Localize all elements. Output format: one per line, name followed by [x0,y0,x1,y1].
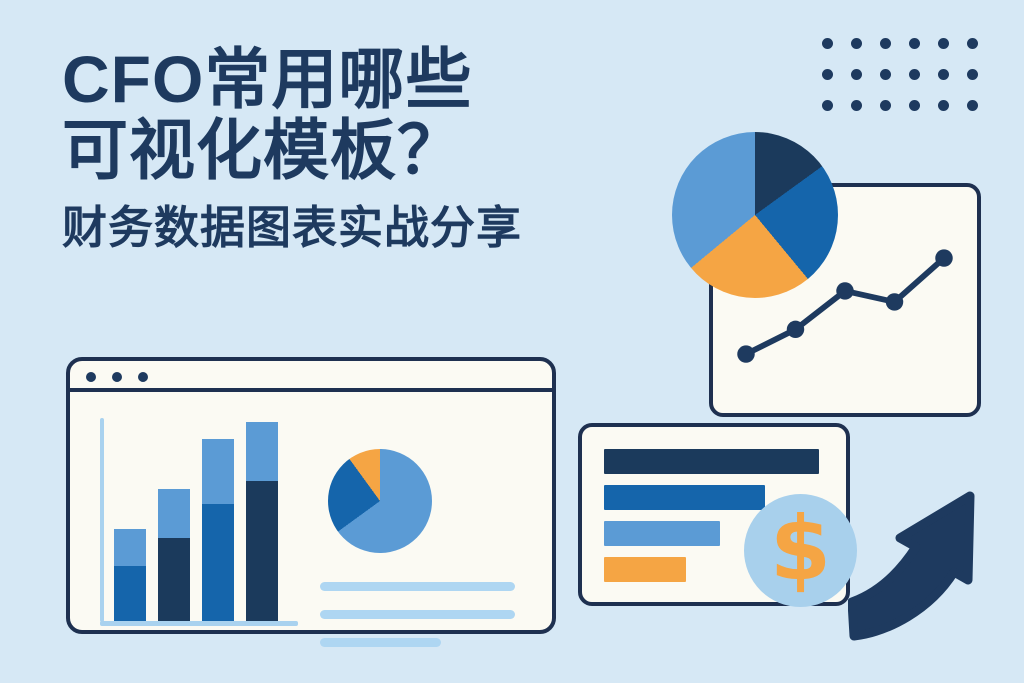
horizontal-bar [604,521,720,546]
bar-segment-top [246,422,278,481]
grid-dot-icon [851,38,862,49]
window-dot-icon-1[interactable] [86,372,96,382]
dashboard-browser-card [66,357,556,634]
grid-dot-icon [909,69,920,80]
placeholder-line [320,610,515,619]
page-subtitle: 财务数据图表实战分享 [62,203,662,253]
dot-grid-decoration [822,38,996,131]
grid-dot-icon [880,100,891,111]
grid-dot-icon [909,38,920,49]
grid-dot-icon [967,100,978,111]
bar-segment-top [114,529,146,566]
grid-dot-icon [880,69,891,80]
bar-chart-x-axis [100,621,298,626]
page-title-line-2: 可视化模板？ [62,115,662,186]
horizontal-bar [604,557,686,582]
data-point [886,293,903,310]
dashboard-body [70,392,552,630]
placeholder-line [320,638,441,647]
text-placeholder-lines [320,582,515,666]
data-point [935,249,952,266]
large-pie-chart [672,132,838,298]
grid-dot-icon [880,38,891,49]
bar-segment-base [158,538,190,621]
data-point [836,282,853,299]
grid-dot-icon [938,100,949,111]
window-controls [86,372,148,382]
placeholder-line [320,582,515,591]
grid-dot-icon [851,100,862,111]
bar-segment-base [202,504,234,621]
browser-title-bar [70,361,552,392]
stacked-bar-chart [100,418,300,626]
dollar-sign-icon: $ [770,505,831,593]
grid-dot-icon [909,100,920,111]
bar-segment-base [246,481,278,621]
poster-canvas: CFO常用哪些 可视化模板？ 财务数据图表实战分享 [0,0,1024,683]
grid-dot-icon [822,69,833,80]
grid-dot-icon [967,69,978,80]
grid-dot-icon [822,100,833,111]
bar-segment-base [114,566,146,621]
window-dot-icon-2[interactable] [112,372,122,382]
bar-column [158,489,190,621]
grid-dot-icon [851,69,862,80]
bar-segment-top [158,489,190,538]
grid-dot-icon [938,38,949,49]
bar-column [202,439,234,621]
data-point [787,321,804,338]
data-point [737,345,754,362]
bar-column [246,422,278,621]
bar-chart-y-axis [100,418,104,622]
grid-dot-icon [822,38,833,49]
horizontal-bar [604,449,819,474]
page-title-line-1: CFO常用哪些 [62,44,662,115]
grid-dot-icon [938,69,949,80]
mini-pie-chart [328,449,432,553]
bar-segment-top [202,439,234,504]
headline-block: CFO常用哪些 可视化模板？ 财务数据图表实战分享 [62,44,662,252]
growth-arrow-icon [848,478,998,650]
grid-dot-icon [967,38,978,49]
bar-column [114,529,146,621]
window-dot-icon-3[interactable] [138,372,148,382]
dollar-badge: $ [744,494,857,607]
bar-columns [114,422,278,621]
horizontal-bar [604,485,765,510]
